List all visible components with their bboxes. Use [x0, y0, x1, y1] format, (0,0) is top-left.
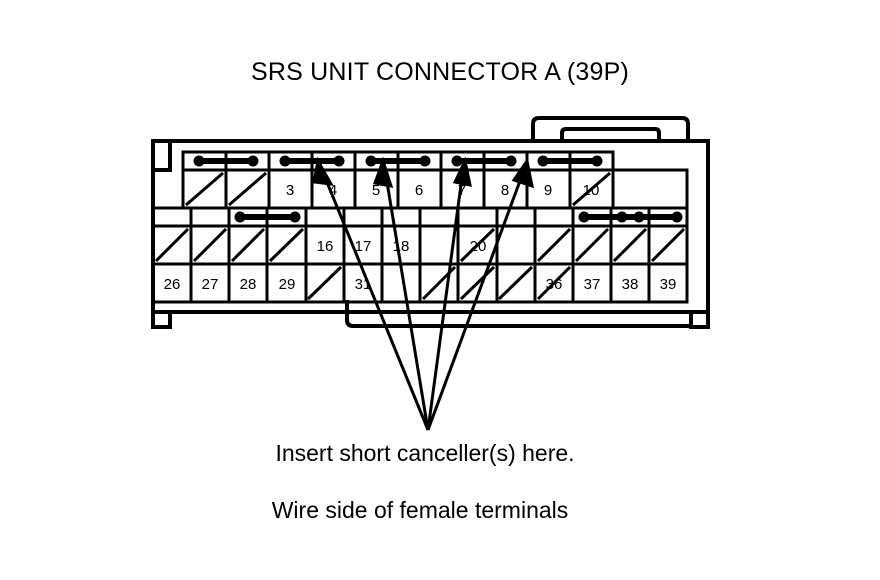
caption-wire-side: Wire side of female terminals [272, 497, 569, 523]
shell-notch-bottom-right [691, 312, 708, 327]
terminal-row-2 [153, 208, 687, 264]
diagram-canvas: SRS UNIT CONNECTOR A (39P) [0, 0, 880, 580]
terminal-row-3 [153, 264, 687, 302]
row-3-hatch-marks [308, 267, 570, 299]
pin-label: 27 [202, 276, 219, 293]
srs-connector-diagram: SRS UNIT CONNECTOR A (39P) [0, 0, 880, 580]
page-title: SRS UNIT CONNECTOR A (39P) [251, 58, 629, 86]
leader-line-to-pin-10 [428, 161, 532, 430]
connector-shell [153, 118, 708, 327]
pin-label: 16 [317, 238, 334, 255]
pin-label: 3 [286, 182, 294, 199]
pin-label: 8 [501, 182, 509, 199]
pin-label: 10 [583, 182, 600, 199]
terminal-grid [153, 152, 687, 302]
pin-label: 39 [660, 276, 677, 293]
shell-notch-top-left [153, 141, 170, 170]
pin-label: 28 [240, 276, 257, 293]
shell-notch-bottom-left [153, 312, 170, 327]
leader-line-to-pin-4 [314, 161, 428, 430]
terminal-row-1 [183, 152, 687, 208]
pin-label: 26 [164, 276, 181, 293]
callout-leader-lines [314, 161, 532, 430]
pin-label: 36 [546, 276, 563, 293]
pin-label: 29 [279, 276, 296, 293]
pin-label: 38 [622, 276, 639, 293]
pin-label: 37 [584, 276, 601, 293]
pin-label: 20 [470, 238, 487, 255]
caption-insert-short-canceller: Insert short canceller(s) here. [275, 440, 574, 466]
pin-label: 9 [544, 182, 552, 199]
row-3-dividers [191, 264, 649, 302]
row-1-cell-band [183, 170, 687, 208]
pin-label: 6 [415, 182, 423, 199]
